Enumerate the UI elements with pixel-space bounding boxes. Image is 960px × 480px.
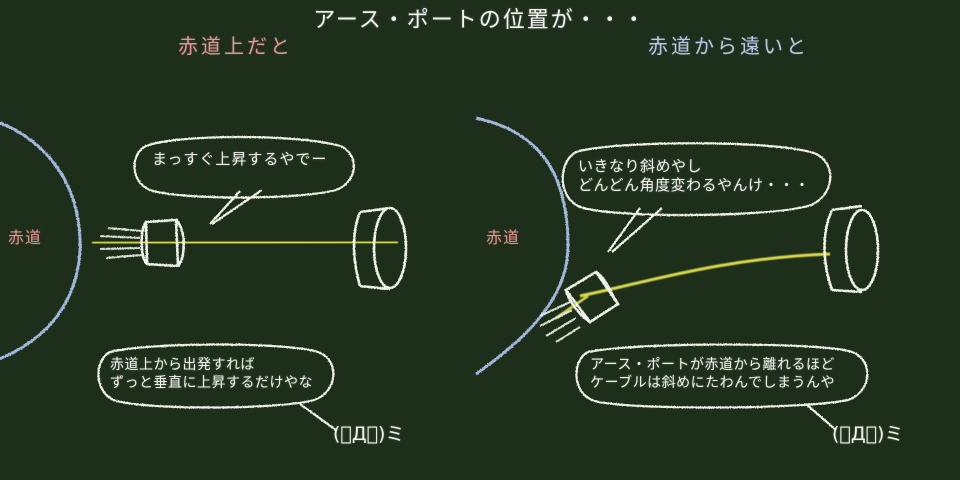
speech-text-right-bottom: アース・ポートが赤道から離れるほど ケーブルは斜めにたわんでしまうんや [590,357,835,393]
equator-label-left: 赤道 [8,224,42,248]
speech-line: アース・ポートが赤道から離れるほど [590,357,835,375]
kaomoji-face-right: (゚Д゚)ミ [832,419,903,446]
speech-line: ずっと垂直に上昇するだけやな [110,375,313,393]
kaomoji-face-left: (゚Д゚)ミ [333,419,404,446]
space-elevator-cable-left [92,242,398,243]
equator-label-right: 赤道 [486,224,520,248]
subtitle-right: 赤道から遠いと [648,30,809,59]
speech-line: ケーブルは斜めにたわんでしまうんや [590,375,835,393]
diagram-artwork [0,0,960,480]
speech-text-left-bottom: 赤道上から出発すれば ずっと垂直に上昇するだけやな [110,357,313,393]
speech-line: 赤道上から出発すれば [110,357,313,375]
speech-text-right-top: いきなり斜めやし どんどん角度変わるやんけ・・・ [578,157,810,195]
climber-capsule-right [566,272,618,322]
subtitle-left: 赤道上だと [178,30,293,59]
speech-line: どんどん角度変わるやんけ・・・ [578,176,810,195]
speech-line: まっすぐ上昇するやでー [152,150,327,169]
speech-line: いきなり斜めやし [578,157,810,176]
space-elevator-cable-right [580,254,830,296]
orbital-station-left [354,208,406,289]
chalkboard-diagram: アース・ポートの位置が・・・ 赤道上だと 赤道から遠いと 赤道 赤道 まっすぐ上… [0,0,960,480]
orbital-station-right [825,206,879,292]
speech-text-left-top: まっすぐ上昇するやでー [152,150,327,169]
page-title: アース・ポートの位置が・・・ [0,2,960,34]
